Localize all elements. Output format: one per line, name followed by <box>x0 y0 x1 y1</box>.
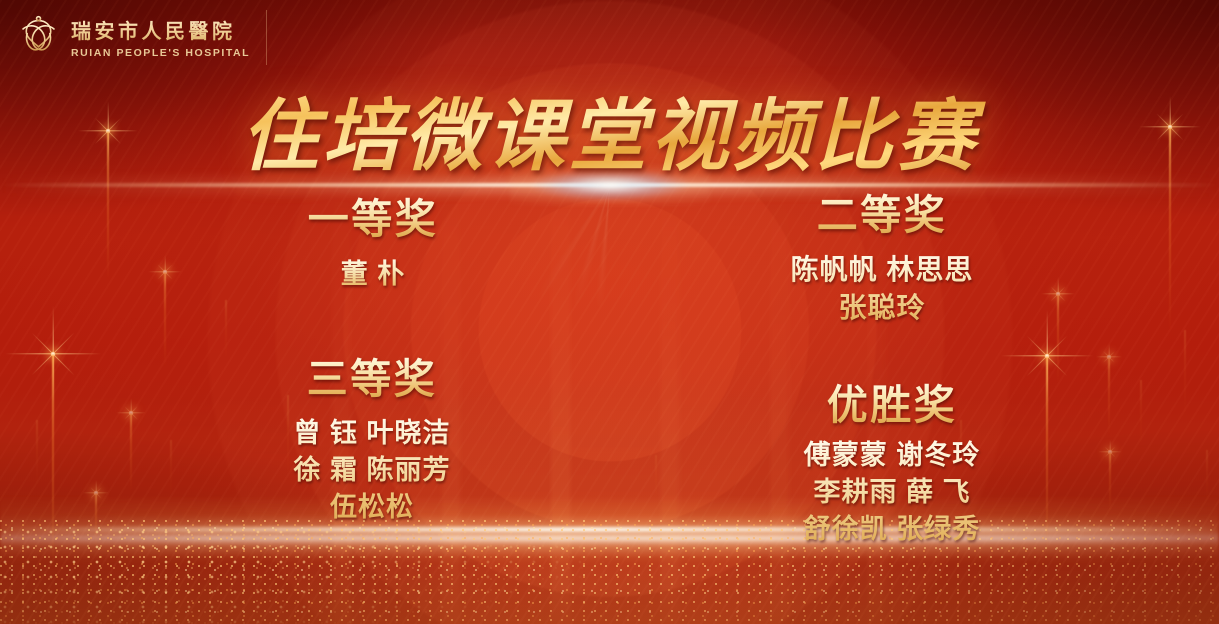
award-winner-row: 陈帆帆 林思思 <box>700 252 1064 288</box>
sparkle-star-icon <box>83 480 109 506</box>
award-winner-row: 舒徐凯 张绿秀 <box>700 512 1084 547</box>
award-poster: 瑞安市人民醫院 RUIAN PEOPLE'S HOSPITAL 住培微课堂视频比… <box>0 0 1219 624</box>
award-winners-third-prize: 曾 钰 叶晓洁徐 霜 陈丽芳伍松松 <box>186 416 558 525</box>
award-winner-row: 董 朴 <box>200 257 546 292</box>
light-thread <box>225 300 227 360</box>
award-winner-row: 曾 钰 叶晓洁 <box>186 416 558 451</box>
hospital-name-cn: 瑞安市人民醫院 <box>71 15 250 44</box>
hospital-emblem-icon <box>15 13 62 60</box>
particle-field-dense <box>0 528 620 624</box>
hospital-logo: 瑞安市人民醫院 RUIAN PEOPLE'S HOSPITAL <box>11 10 267 65</box>
award-title-second-prize: 二等奖 <box>700 192 1064 239</box>
sparkle-star-icon <box>1096 344 1122 370</box>
award-winner-row: 李耕雨 薛 飞 <box>700 475 1084 510</box>
light-thread <box>170 440 172 500</box>
award-title-first-prize: 一等奖 <box>200 196 546 243</box>
award-title-third-prize: 三等奖 <box>186 356 558 403</box>
award-block-merit-prize: 优胜奖 傅蒙蒙 谢冬玲李耕雨 薛 飞舒徐凯 张绿秀 <box>700 382 1084 547</box>
hospital-name-en: RUIAN PEOPLE'S HOSPITAL <box>71 47 250 59</box>
award-winner-row: 徐 霜 陈丽芳 <box>186 453 558 488</box>
light-thread <box>36 420 38 490</box>
sparkle-star-icon <box>5 306 101 402</box>
award-winner-row: 张聪玲 <box>700 290 1064 326</box>
light-thread <box>1140 380 1142 450</box>
hospital-name-block: 瑞安市人民醫院 RUIAN PEOPLE'S HOSPITAL <box>71 15 250 59</box>
award-block-first-prize: 一等奖 董 朴 <box>200 196 546 292</box>
award-winner-row: 伍松松 <box>186 490 558 525</box>
award-winners-merit-prize: 傅蒙蒙 谢冬玲李耕雨 薛 飞舒徐凯 张绿秀 <box>700 438 1084 547</box>
award-block-third-prize: 三等奖 曾 钰 叶晓洁徐 霜 陈丽芳伍松松 <box>186 356 558 525</box>
award-title-merit-prize: 优胜奖 <box>700 382 1084 429</box>
poster-title: 住培微课堂视频比赛 <box>0 74 1219 186</box>
award-winners-second-prize: 陈帆帆 林思思张聪玲 <box>700 252 1064 327</box>
light-thread <box>1206 450 1208 505</box>
sparkle-star-icon <box>1098 440 1122 464</box>
sparkle-star-icon <box>116 398 146 428</box>
light-thread <box>1184 330 1186 420</box>
award-winners-first-prize: 董 朴 <box>200 257 546 292</box>
award-winner-row: 傅蒙蒙 谢冬玲 <box>700 438 1084 473</box>
light-thread <box>655 455 657 503</box>
sparkle-star-icon <box>148 255 182 289</box>
award-block-second-prize: 二等奖 陈帆帆 林思思张聪玲 <box>700 192 1064 327</box>
